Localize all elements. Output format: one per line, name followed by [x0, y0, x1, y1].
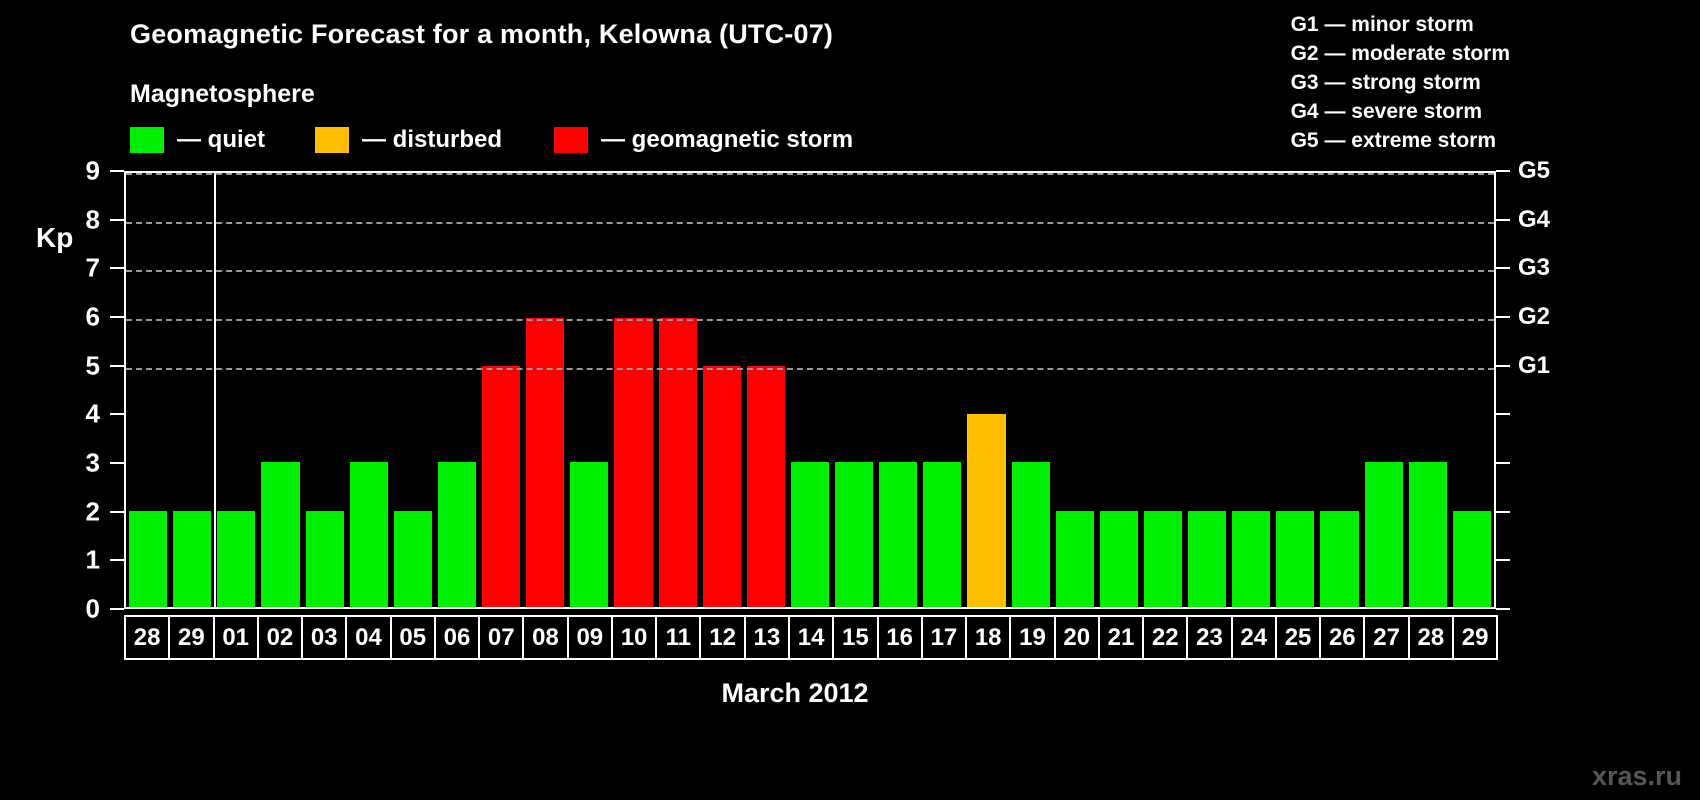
- g-key-row-2: G2 — moderate storm: [1291, 39, 1510, 68]
- date-cell-17: 17: [921, 615, 967, 660]
- g-axis-tick-mark-kp-9: [1496, 170, 1510, 172]
- bar-cell: [832, 173, 876, 607]
- kp-tick-mark-6: [110, 316, 124, 318]
- gridline-kp-7: [126, 270, 1494, 272]
- kp-tick-label-7: 7: [86, 253, 100, 284]
- bar-21-quiet: [1100, 511, 1138, 607]
- g-key-row-1: G1 — minor storm: [1291, 10, 1510, 39]
- bar-cell: [214, 173, 258, 607]
- bar-cell: [1229, 173, 1273, 607]
- date-cell-24: 24: [1231, 615, 1277, 660]
- bar-26-quiet: [1320, 511, 1358, 607]
- month-caption: March 2012: [0, 678, 1700, 709]
- legend-item-quiet: — quiet: [130, 126, 265, 154]
- g-axis-tick-mark-kp-5: [1496, 365, 1510, 367]
- gridline-kp-5: [126, 368, 1494, 370]
- kp-tick-mark-1: [110, 559, 124, 561]
- kp-tick-mark-3: [110, 462, 124, 464]
- bar-cell: [567, 173, 611, 607]
- bar-25-quiet: [1276, 511, 1314, 607]
- legend-swatch-quiet: [130, 127, 164, 153]
- bar-series: [126, 173, 1494, 607]
- legend-label-disturbed: — disturbed: [362, 126, 502, 154]
- bar-14-quiet: [791, 462, 829, 607]
- date-cell-26: 26: [1319, 615, 1365, 660]
- legend-item-storm: — geomagnetic storm: [554, 126, 853, 154]
- kp-axis-label: Kp: [36, 222, 73, 254]
- bar-24-quiet: [1232, 511, 1270, 607]
- month-caption-text: March 2012: [721, 678, 868, 709]
- legend-swatch-storm: [554, 127, 588, 153]
- bar-28-quiet: [1409, 462, 1447, 607]
- bar-22-quiet: [1144, 511, 1182, 607]
- g-axis-tick-mark-kp-1: [1496, 559, 1510, 561]
- date-cell-16: 16: [877, 615, 923, 660]
- bar-06-quiet: [438, 462, 476, 607]
- g-scale-key: G1 — minor stormG2 — moderate stormG3 — …: [1291, 10, 1510, 155]
- date-cell-09: 09: [567, 615, 613, 660]
- kp-tick-label-3: 3: [86, 448, 100, 479]
- bar-cell: [347, 173, 391, 607]
- date-cell-21: 21: [1098, 615, 1144, 660]
- bar-cell: [1273, 173, 1317, 607]
- bar-02-quiet: [261, 462, 299, 607]
- g-axis-tick-mark-kp-0: [1496, 608, 1510, 610]
- bar-03-quiet: [306, 511, 344, 607]
- bar-01-quiet: [217, 511, 255, 607]
- bar-10-storm: [614, 318, 652, 607]
- bar-cell: [258, 173, 302, 607]
- date-cell-14: 14: [788, 615, 834, 660]
- bar-cell: [523, 173, 567, 607]
- bar-cell: [435, 173, 479, 607]
- kp-tick-label-8: 8: [86, 204, 100, 235]
- kp-tick-mark-2: [110, 511, 124, 513]
- bar-cell: [1009, 173, 1053, 607]
- bar-28-quiet: [129, 511, 167, 607]
- kp-tick-mark-9: [110, 170, 124, 172]
- plot-frame: [124, 171, 1496, 609]
- bar-cell: [876, 173, 920, 607]
- bar-29-quiet: [1453, 511, 1491, 607]
- bar-cell: [1097, 173, 1141, 607]
- date-axis: 2829010203040506070809101112131415161718…: [124, 615, 1496, 660]
- kp-tick-label-0: 0: [86, 594, 100, 625]
- color-legend: — quiet— disturbed— geomagnetic storm: [130, 126, 853, 154]
- geomagnetic-forecast-chart: Geomagnetic Forecast for a month, Kelown…: [0, 0, 1700, 800]
- gridline-kp-6: [126, 319, 1494, 321]
- date-cell-04: 04: [345, 615, 391, 660]
- kp-tick-label-2: 2: [86, 496, 100, 527]
- kp-tick-label-5: 5: [86, 350, 100, 381]
- bar-23-quiet: [1188, 511, 1226, 607]
- bar-05-quiet: [394, 511, 432, 607]
- kp-tick-label-4: 4: [86, 399, 100, 430]
- date-cell-01: 01: [213, 615, 259, 660]
- kp-tick-mark-0: [110, 608, 124, 610]
- g-axis-tick-mark-kp-3: [1496, 462, 1510, 464]
- date-cell-07: 07: [478, 615, 524, 660]
- bar-cell: [656, 173, 700, 607]
- bar-cell: [920, 173, 964, 607]
- bar-15-quiet: [835, 462, 873, 607]
- watermark: xras.ru: [1592, 761, 1682, 792]
- kp-tick-label-1: 1: [86, 545, 100, 576]
- date-cell-08: 08: [522, 615, 568, 660]
- bar-cell: [1406, 173, 1450, 607]
- date-cell-02: 02: [257, 615, 303, 660]
- date-cell-06: 06: [434, 615, 480, 660]
- bar-08-storm: [526, 318, 564, 607]
- legend-item-disturbed: — disturbed: [315, 126, 502, 154]
- date-cell-03: 03: [301, 615, 347, 660]
- g-axis-label-G1: G1: [1518, 352, 1550, 380]
- bar-29-quiet: [173, 511, 211, 607]
- g-key-row-3: G3 — strong storm: [1291, 68, 1510, 97]
- legend-swatch-disturbed: [315, 127, 349, 153]
- legend-label-storm: — geomagnetic storm: [601, 126, 853, 154]
- magnetosphere-label: Magnetosphere: [130, 80, 315, 109]
- bar-cell: [170, 173, 214, 607]
- bar-04-quiet: [350, 462, 388, 607]
- kp-tick-mark-5: [110, 365, 124, 367]
- kp-tick-label-6: 6: [86, 302, 100, 333]
- bar-19-quiet: [1012, 462, 1050, 607]
- bar-cell: [964, 173, 1008, 607]
- bar-11-storm: [659, 318, 697, 607]
- date-cell-28: 28: [124, 615, 170, 660]
- date-cell-22: 22: [1142, 615, 1188, 660]
- kp-tick-mark-7: [110, 267, 124, 269]
- g-key-row-5: G5 — extreme storm: [1291, 126, 1510, 155]
- bar-17-quiet: [923, 462, 961, 607]
- bar-27-quiet: [1365, 462, 1403, 607]
- g-axis-tick-mark-kp-2: [1496, 511, 1510, 513]
- bar-cell: [700, 173, 744, 607]
- date-cell-18: 18: [965, 615, 1011, 660]
- g-axis-tick-mark-kp-4: [1496, 413, 1510, 415]
- bar-13-storm: [747, 366, 785, 607]
- bar-20-quiet: [1056, 511, 1094, 607]
- bar-cell: [744, 173, 788, 607]
- date-cell-29: 29: [1452, 615, 1498, 660]
- bar-cell: [391, 173, 435, 607]
- bar-cell: [1053, 173, 1097, 607]
- bar-09-quiet: [570, 462, 608, 607]
- g-scale-axis: G1G2G3G4G5: [1496, 171, 1616, 609]
- legend-label-quiet: — quiet: [177, 126, 265, 154]
- g-axis-label-G3: G3: [1518, 254, 1550, 282]
- bar-cell: [303, 173, 347, 607]
- date-cell-13: 13: [744, 615, 790, 660]
- bar-cell: [1450, 173, 1494, 607]
- date-cell-20: 20: [1054, 615, 1100, 660]
- date-cell-28: 28: [1408, 615, 1454, 660]
- date-cell-11: 11: [655, 615, 701, 660]
- date-cell-29: 29: [168, 615, 214, 660]
- bar-cell: [1141, 173, 1185, 607]
- g-axis-label-G2: G2: [1518, 303, 1550, 331]
- bar-cell: [1317, 173, 1361, 607]
- gridline-kp-9: [126, 173, 1494, 175]
- bar-cell: [788, 173, 832, 607]
- bar-cell: [126, 173, 170, 607]
- bar-07-storm: [482, 366, 520, 607]
- date-cell-19: 19: [1009, 615, 1055, 660]
- bar-cell: [1362, 173, 1406, 607]
- g-key-row-4: G4 — severe storm: [1291, 97, 1510, 126]
- date-cell-12: 12: [699, 615, 745, 660]
- date-cell-15: 15: [832, 615, 878, 660]
- date-cell-23: 23: [1186, 615, 1232, 660]
- g-axis-tick-mark-kp-6: [1496, 316, 1510, 318]
- bar-cell: [611, 173, 655, 607]
- g-axis-label-G4: G4: [1518, 206, 1550, 234]
- bar-18-disturbed: [967, 414, 1005, 607]
- gridline-kp-8: [126, 222, 1494, 224]
- g-axis-label-G5: G5: [1518, 157, 1550, 185]
- kp-tick-label-9: 9: [86, 156, 100, 187]
- bar-cell: [479, 173, 523, 607]
- kp-tick-mark-8: [110, 219, 124, 221]
- g-axis-tick-mark-kp-8: [1496, 219, 1510, 221]
- current-time-separator: [214, 173, 216, 607]
- date-cell-27: 27: [1363, 615, 1409, 660]
- date-cell-25: 25: [1275, 615, 1321, 660]
- date-cell-05: 05: [390, 615, 436, 660]
- page-title: Geomagnetic Forecast for a month, Kelown…: [130, 19, 833, 50]
- bar-12-storm: [703, 366, 741, 607]
- date-cell-10: 10: [611, 615, 657, 660]
- bar-cell: [1185, 173, 1229, 607]
- g-axis-tick-mark-kp-7: [1496, 267, 1510, 269]
- plot-area: [124, 171, 1496, 609]
- bar-16-quiet: [879, 462, 917, 607]
- kp-tick-mark-4: [110, 413, 124, 415]
